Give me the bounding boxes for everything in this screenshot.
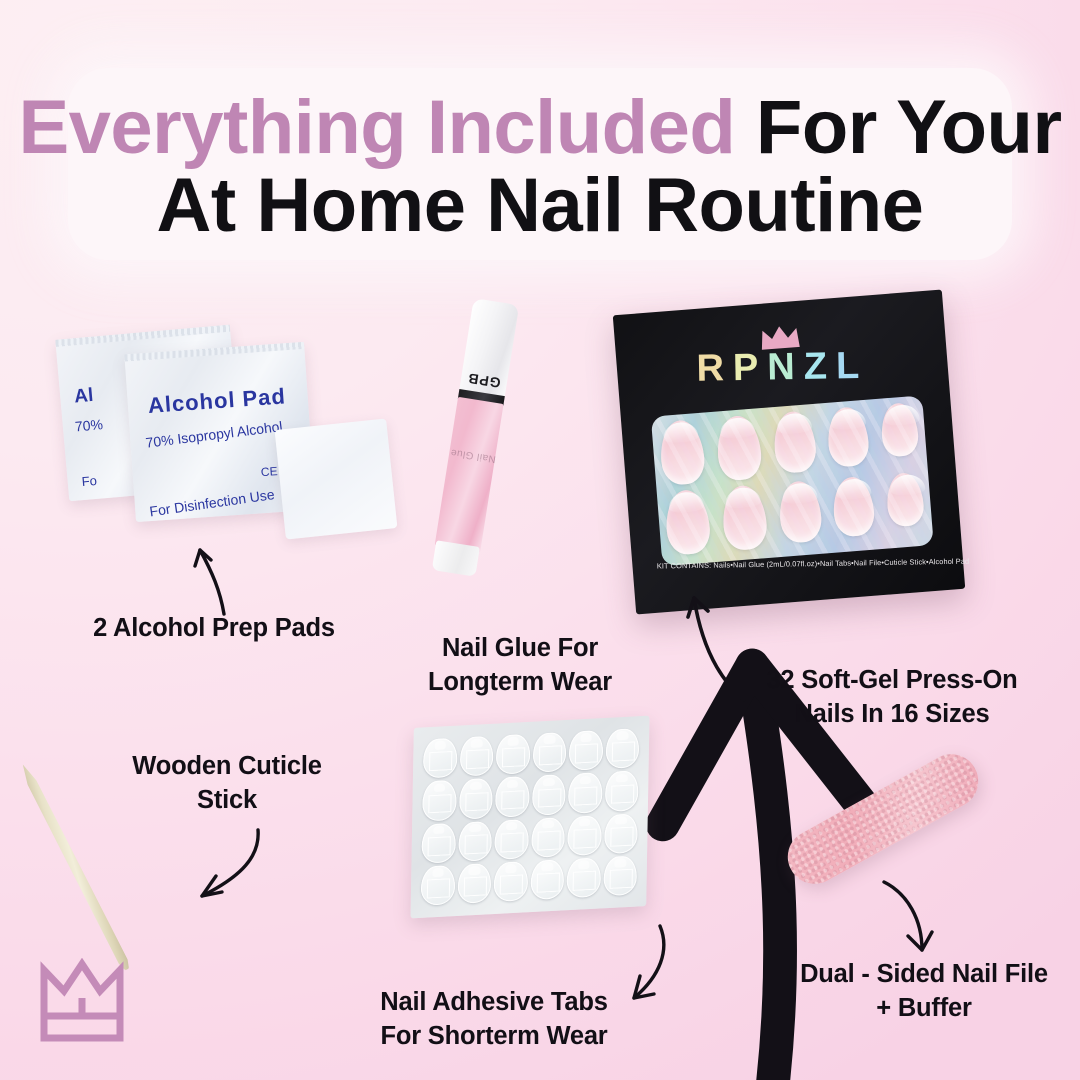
sachet-ce-mark: CE: [260, 464, 278, 479]
caption-nail-glue-line2: Longterm Wear: [400, 666, 640, 700]
adhesive-tab-item: [423, 738, 457, 779]
caption-nail-file-line1: Dual - Sided Nail File: [790, 958, 1058, 992]
nail-row-bottom: [664, 472, 927, 560]
headline-line-2: At Home Nail Routine: [157, 167, 924, 245]
nail-item: [885, 472, 925, 528]
adhesive-tab-item: [532, 774, 566, 815]
caption-press-on-line2: Nails In 16 Sizes: [748, 698, 1036, 732]
sachet-front-title: Alcohol Pad: [147, 383, 287, 419]
nail-item: [777, 480, 823, 544]
infographic-canvas: Everything Included For Your At Home Nai…: [0, 0, 1080, 1080]
caption-nail-glue-line1: Nail Glue For: [400, 632, 640, 666]
nail-item: [880, 402, 920, 458]
nail-item: [664, 489, 712, 556]
dual-sided-nail-file-product: [778, 744, 988, 893]
arrow-to-cuticle-stick: [182, 820, 272, 920]
adhesive-tab-item: [495, 776, 529, 817]
adhesive-tab-item: [531, 817, 565, 858]
adhesive-tab-item: [605, 728, 639, 769]
nail-item: [658, 419, 706, 486]
sachet-front-subtitle: 70% Isopropyl Alcohol: [145, 418, 284, 451]
caption-nail-glue: Nail Glue For Longterm Wear: [400, 632, 640, 700]
adhesive-tabs-grid: [421, 728, 640, 906]
caption-cuticle-line2: Stick: [108, 784, 346, 818]
caption-alcohol-pads: 2 Alcohol Prep Pads: [84, 612, 344, 646]
adhesive-tab-item: [494, 819, 528, 860]
holographic-nail-tray: [651, 395, 934, 566]
adhesive-tab-item: [422, 780, 456, 821]
nail-adhesive-tabs-sheet: [410, 716, 649, 919]
sachet-back-footer: Fo: [81, 473, 97, 489]
adhesive-tab-item: [459, 736, 493, 777]
caption-adhesive-line1: Nail Adhesive Tabs: [344, 986, 644, 1020]
adhesive-tab-item: [604, 813, 638, 854]
headline-accent-text: Everything Included: [18, 85, 735, 170]
caption-cuticle-stick: Wooden Cuticle Stick: [108, 750, 346, 818]
brand-letter-p: P: [733, 347, 768, 390]
adhesive-tab-item: [494, 861, 528, 902]
caption-nail-file: Dual - Sided Nail File + Buffer: [790, 958, 1058, 1026]
adhesive-tab-item: [568, 772, 602, 813]
nail-item: [771, 410, 817, 474]
adhesive-tab-item: [532, 732, 566, 773]
sachet-front-footer: For Disinfection Use: [148, 486, 275, 519]
caption-adhesive-line2: For Shorterm Wear: [344, 1020, 644, 1054]
caption-press-on-line1: 32 Soft-Gel Press-On: [748, 664, 1036, 698]
sachet-back-title: Al: [73, 385, 94, 409]
adhesive-tab-item: [421, 822, 455, 863]
sachet-serrated-edge: [55, 325, 230, 347]
caption-nail-file-line2: + Buffer: [790, 992, 1058, 1026]
adhesive-tab-item: [604, 771, 638, 812]
adhesive-tab-item: [459, 778, 493, 819]
adhesive-tab-item: [569, 730, 603, 771]
caption-cuticle-line1: Wooden Cuticle: [108, 750, 346, 784]
arrow-to-nail-file: [874, 876, 954, 964]
nail-item: [831, 476, 876, 538]
alcohol-prep-pads-product: Al 70% Fo Alcohol Pad 70% Isopropyl Alco…: [52, 318, 382, 548]
sachet-back-subtitle: 70%: [74, 416, 103, 434]
box-brand-logotype: RPNZL: [617, 343, 948, 392]
nail-glue-pen-product: GPB Nail Glue: [431, 298, 519, 577]
adhesive-tab-item: [496, 734, 530, 775]
nail-item: [715, 414, 763, 481]
adhesive-tab-item: [530, 859, 564, 900]
brand-letter-r: R: [696, 347, 733, 390]
adhesive-tab-item: [457, 863, 491, 904]
nail-row-top: [658, 402, 921, 490]
adhesive-tab-item: [458, 820, 492, 861]
glue-pen-body: [435, 397, 504, 552]
arrow-to-alcohol-pads: [178, 538, 248, 618]
brand-letter-n: N: [767, 346, 804, 389]
nail-item: [720, 484, 768, 551]
headline-line-1: Everything Included For Your: [18, 89, 1061, 167]
rpnzl-crown-logo: [38, 958, 126, 1044]
brand-letter-l: L: [836, 345, 869, 388]
glue-pen-base: [432, 540, 480, 577]
white-cotton-square-pad: [275, 418, 398, 539]
adhesive-tab-item: [421, 865, 455, 906]
brand-letter-z: Z: [803, 345, 836, 388]
caption-press-on-nails: 32 Soft-Gel Press-On Nails In 16 Sizes: [748, 664, 1036, 732]
nail-item: [826, 406, 871, 468]
caption-adhesive-tabs: Nail Adhesive Tabs For Shorterm Wear: [344, 986, 644, 1054]
page-title: Everything Included For Your At Home Nai…: [68, 74, 1012, 260]
adhesive-tab-item: [567, 815, 601, 856]
adhesive-tab-item: [603, 855, 637, 896]
headline-rest-text: For Your: [735, 85, 1061, 170]
press-on-nails-box: RPNZL KIT CONTAINS: Nails•Nail Glue (2mL…: [613, 290, 966, 615]
adhesive-tab-item: [566, 857, 600, 898]
